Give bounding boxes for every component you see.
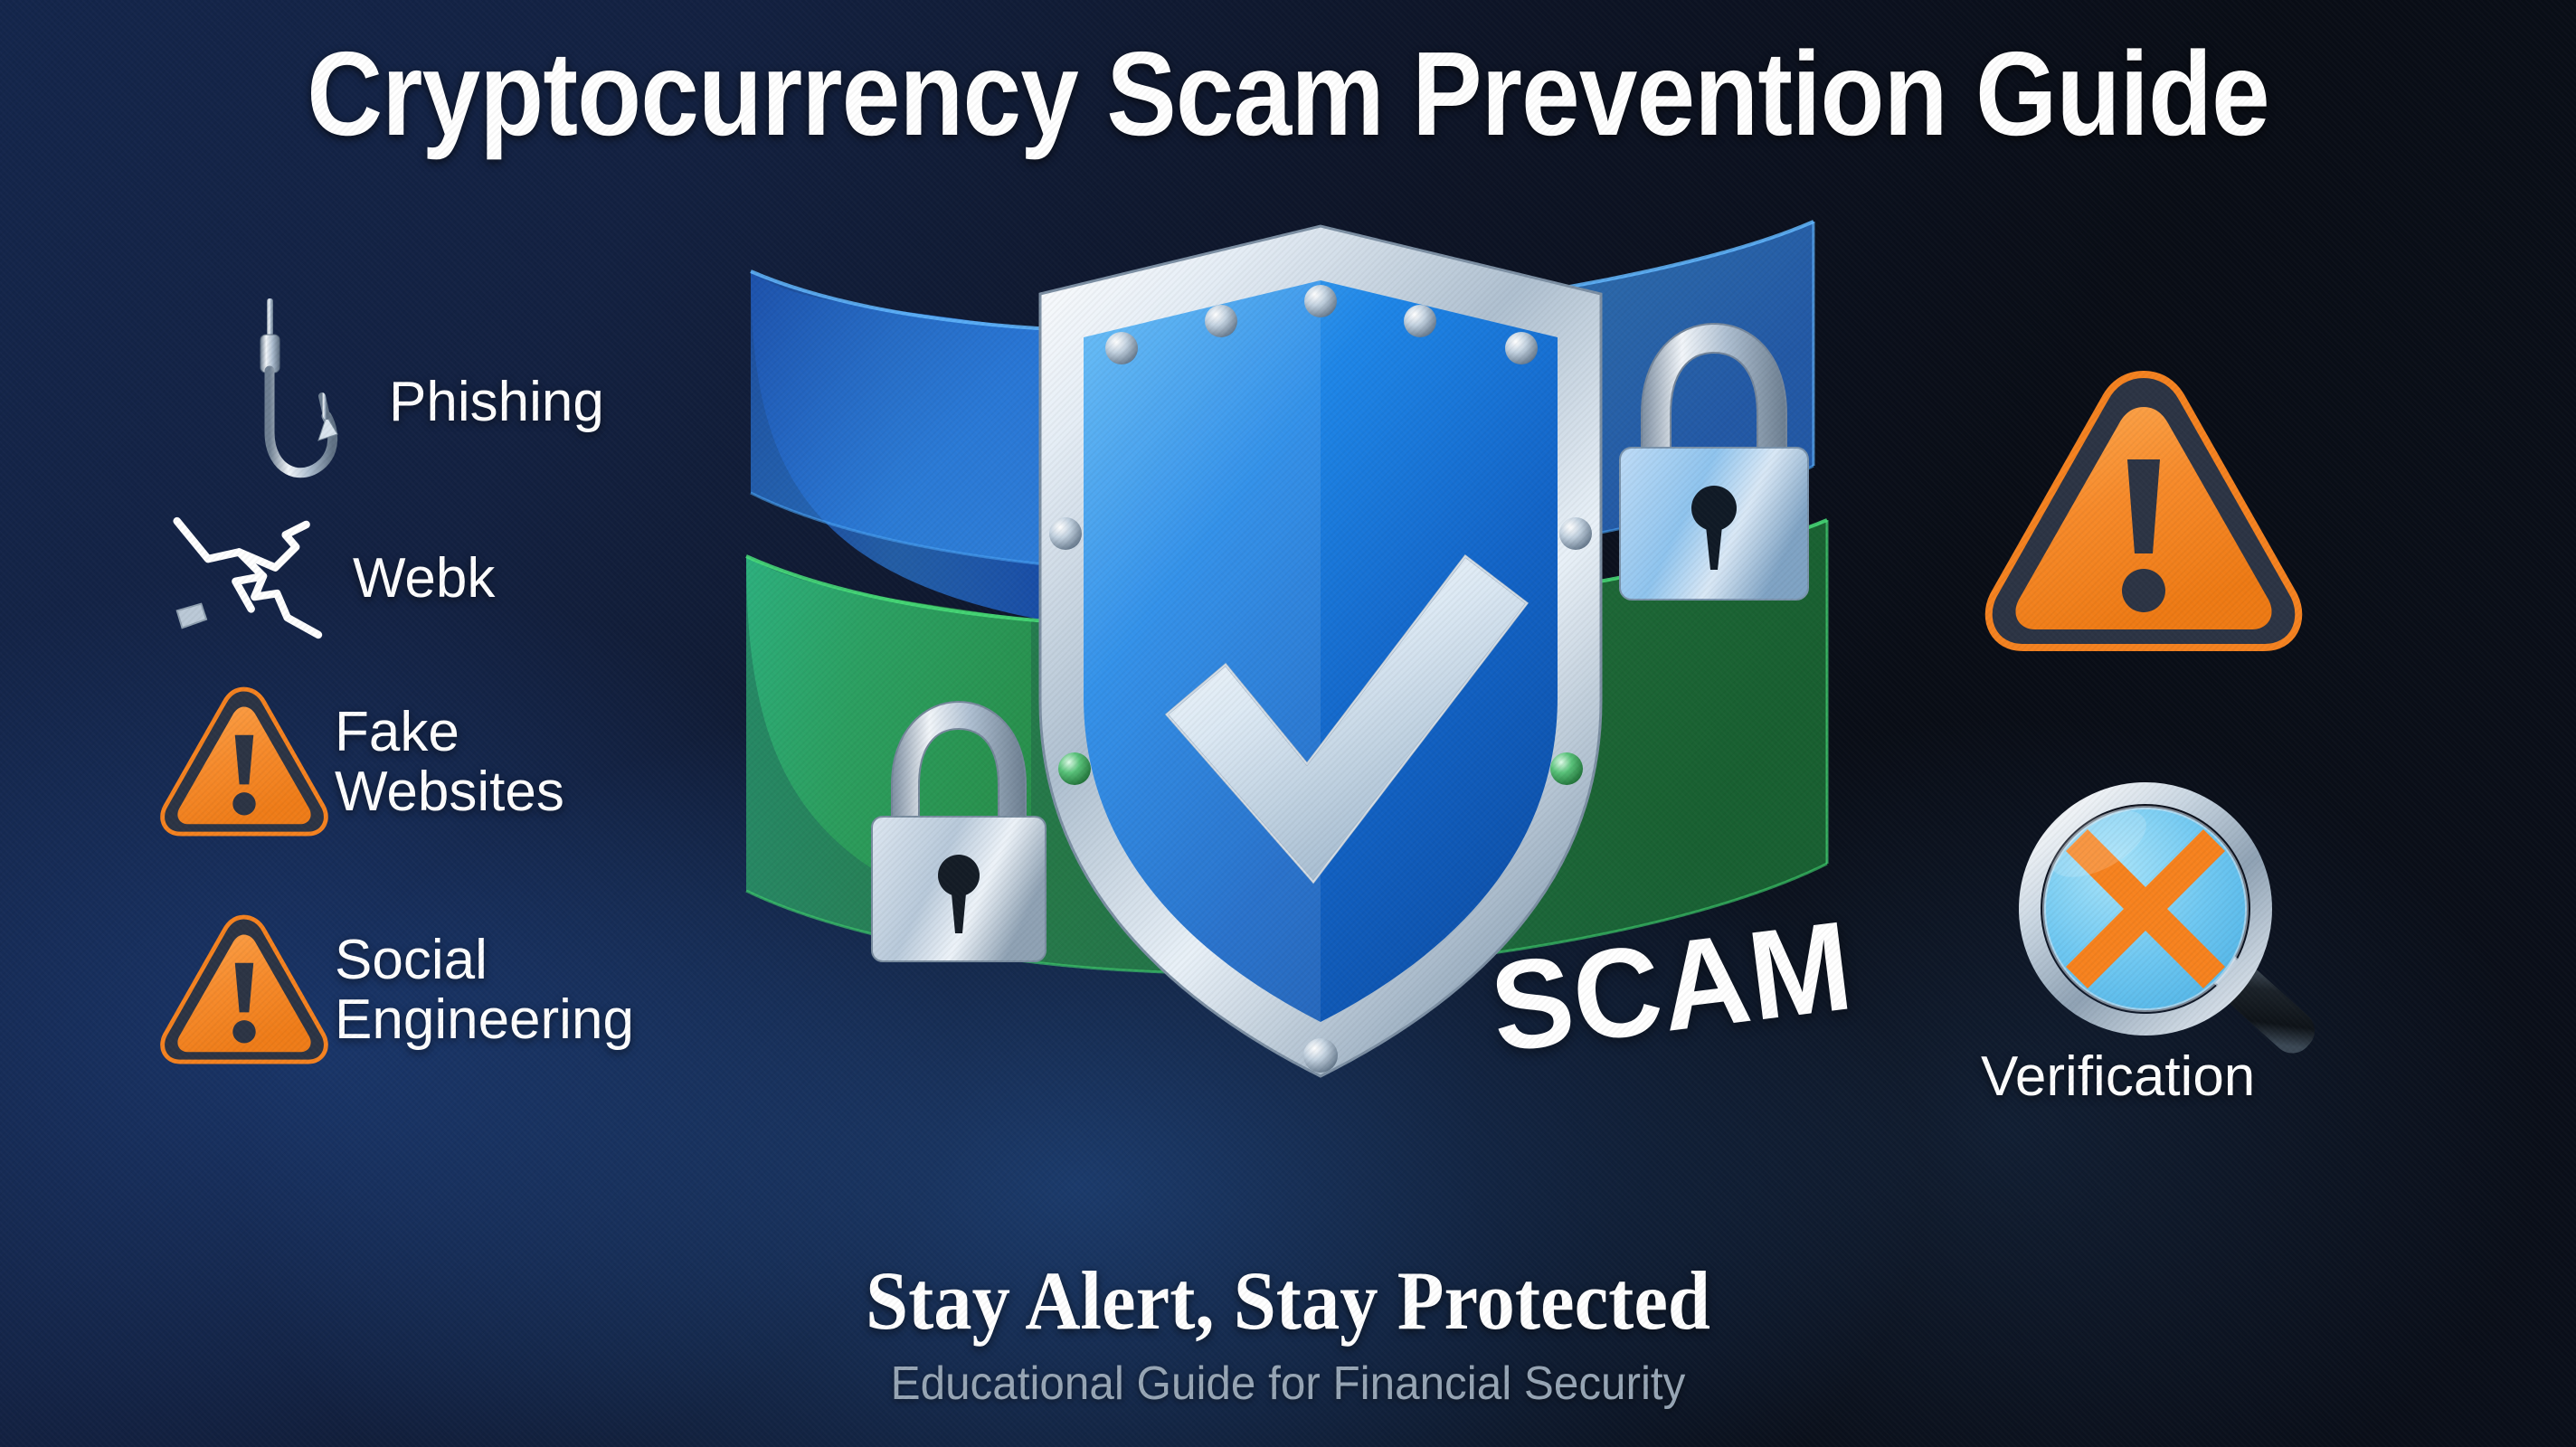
- magnifier-cross-icon[interactable]: [1990, 773, 2352, 1076]
- fish-hook-icon: [208, 298, 389, 506]
- warning-triangle-icon: [154, 678, 335, 846]
- central-shield-graphic: [742, 194, 1899, 1207]
- threat-item-phishing[interactable]: Phishing: [208, 298, 604, 506]
- threat-item-fake-websites[interactable]: Fake Websites: [154, 678, 564, 846]
- threat-label: Social Engineering: [335, 931, 634, 1049]
- threat-label: Fake Websites: [335, 703, 564, 821]
- subtitle: Educational Guide for Financial Security: [64, 1357, 2512, 1411]
- threat-label: Webk: [353, 549, 495, 609]
- threat-label: Phishing: [389, 373, 604, 432]
- threat-item-webk[interactable]: Webk: [172, 511, 495, 647]
- verification-label: Verification: [1981, 1045, 2255, 1109]
- cracked-glass-icon: [172, 511, 353, 647]
- warning-triangle-icon: [154, 906, 335, 1073]
- threat-item-social-engineering[interactable]: Social Engineering: [154, 906, 634, 1073]
- warning-triangle-icon[interactable]: [1972, 362, 2316, 674]
- tagline: Stay Alert, Stay Protected: [103, 1253, 2473, 1348]
- infographic-canvas: Cryptocurrency Scam Prevention Guide: [0, 0, 2576, 1447]
- page-title: Cryptocurrency Scam Prevention Guide: [155, 25, 2421, 162]
- shield-composition-svg: [742, 194, 1899, 1207]
